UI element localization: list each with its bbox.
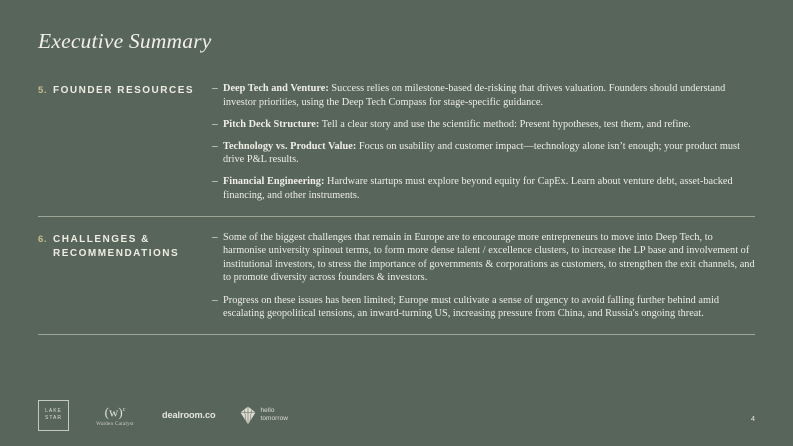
bullet-dash-icon: – [212, 231, 223, 245]
bullet-dash-icon: – [212, 118, 223, 132]
hello-tomorrow-diamond-icon [240, 406, 256, 425]
section-label-group: 6. CHALLENGES & RECOMMENDATIONS [38, 231, 210, 262]
bullet-body: Tell a clear story and use the scientifi… [319, 119, 691, 130]
bullet-lead-in: Financial Engineering: [223, 176, 324, 187]
lakestar-logo-line-2: STAR [45, 415, 62, 422]
lakestar-logo-line-1: LAKE [45, 408, 62, 415]
section-heading-line-2: RECOMMENDATIONS [53, 247, 179, 262]
list-item: – Some of the biggest challenges that re… [212, 231, 755, 285]
hello-tomorrow-logo: hello tomorrow [240, 406, 288, 425]
spacer [38, 321, 755, 334]
hello-tomorrow-label: hello tomorrow [261, 407, 288, 423]
bullet-lead-in: Technology vs. Product Value: [223, 141, 356, 152]
section-bullet-list: – Deep Tech and Venture: Success relies … [210, 82, 755, 203]
walden-catalyst-label: Walden Catalyst [96, 421, 134, 427]
bullet-text: Some of the biggest challenges that rema… [223, 231, 755, 285]
bullet-text: Progress on these issues has been limite… [223, 294, 755, 321]
section-label-group: 5. FOUNDER RESOURCES [38, 82, 210, 99]
section-bullet-list: – Some of the biggest challenges that re… [210, 231, 755, 321]
bullet-text: Financial Engineering: Hardware startups… [223, 175, 755, 202]
bullet-text: Deep Tech and Venture: Success relies on… [223, 82, 755, 109]
page-number: 4 [751, 414, 755, 423]
walden-catalyst-logo: (w)c Walden Catalyst [88, 403, 142, 427]
bullet-text: Technology vs. Product Value: Focus on u… [223, 140, 755, 167]
section-number: 6. [38, 233, 53, 247]
section-heading: FOUNDER RESOURCES [53, 84, 194, 99]
list-item: – Deep Tech and Venture: Success relies … [212, 82, 755, 109]
bullet-text: Pitch Deck Structure: Tell a clear story… [223, 118, 755, 132]
section-divider [38, 334, 755, 335]
walden-mark-superscript: c [123, 407, 126, 413]
section-challenges-recommendations: 6. CHALLENGES & RECOMMENDATIONS – Some o… [38, 231, 755, 321]
list-item: – Pitch Deck Structure: Tell a clear sto… [212, 118, 755, 132]
spacer [38, 203, 755, 216]
dealroom-logo: dealroom.co [162, 410, 216, 420]
hello-tomorrow-line-2: tomorrow [261, 415, 288, 423]
spacer [38, 217, 755, 231]
list-item: – Progress on these issues has been limi… [212, 294, 755, 321]
section-founder-resources: 5. FOUNDER RESOURCES – Deep Tech and Ven… [38, 82, 755, 203]
section-number: 5. [38, 84, 53, 98]
slide-content: 5. FOUNDER RESOURCES – Deep Tech and Ven… [38, 82, 755, 335]
walden-catalyst-mark-icon: (w)c [105, 403, 126, 419]
section-heading-line-1: CHALLENGES & [53, 233, 179, 248]
bullet-dash-icon: – [212, 140, 223, 154]
bullet-dash-icon: – [212, 294, 223, 308]
list-item: – Financial Engineering: Hardware startu… [212, 175, 755, 202]
bullet-lead-in: Deep Tech and Venture: [223, 83, 329, 94]
lakestar-logo: LAKE STAR [38, 400, 69, 431]
footer-logo-bar: LAKE STAR (w)c Walden Catalyst dealroom.… [38, 398, 755, 432]
list-item: – Technology vs. Product Value: Focus on… [212, 140, 755, 167]
hello-tomorrow-line-1: hello [261, 407, 288, 415]
section-divider [38, 216, 755, 217]
section-heading: CHALLENGES & RECOMMENDATIONS [53, 233, 179, 262]
slide-canvas: Executive Summary 5. FOUNDER RESOURCES –… [0, 0, 793, 446]
bullet-dash-icon: – [212, 175, 223, 189]
bullet-dash-icon: – [212, 82, 223, 96]
page-title: Executive Summary [38, 29, 212, 54]
walden-mark-text: (w) [105, 404, 123, 419]
bullet-lead-in: Pitch Deck Structure: [223, 119, 319, 130]
